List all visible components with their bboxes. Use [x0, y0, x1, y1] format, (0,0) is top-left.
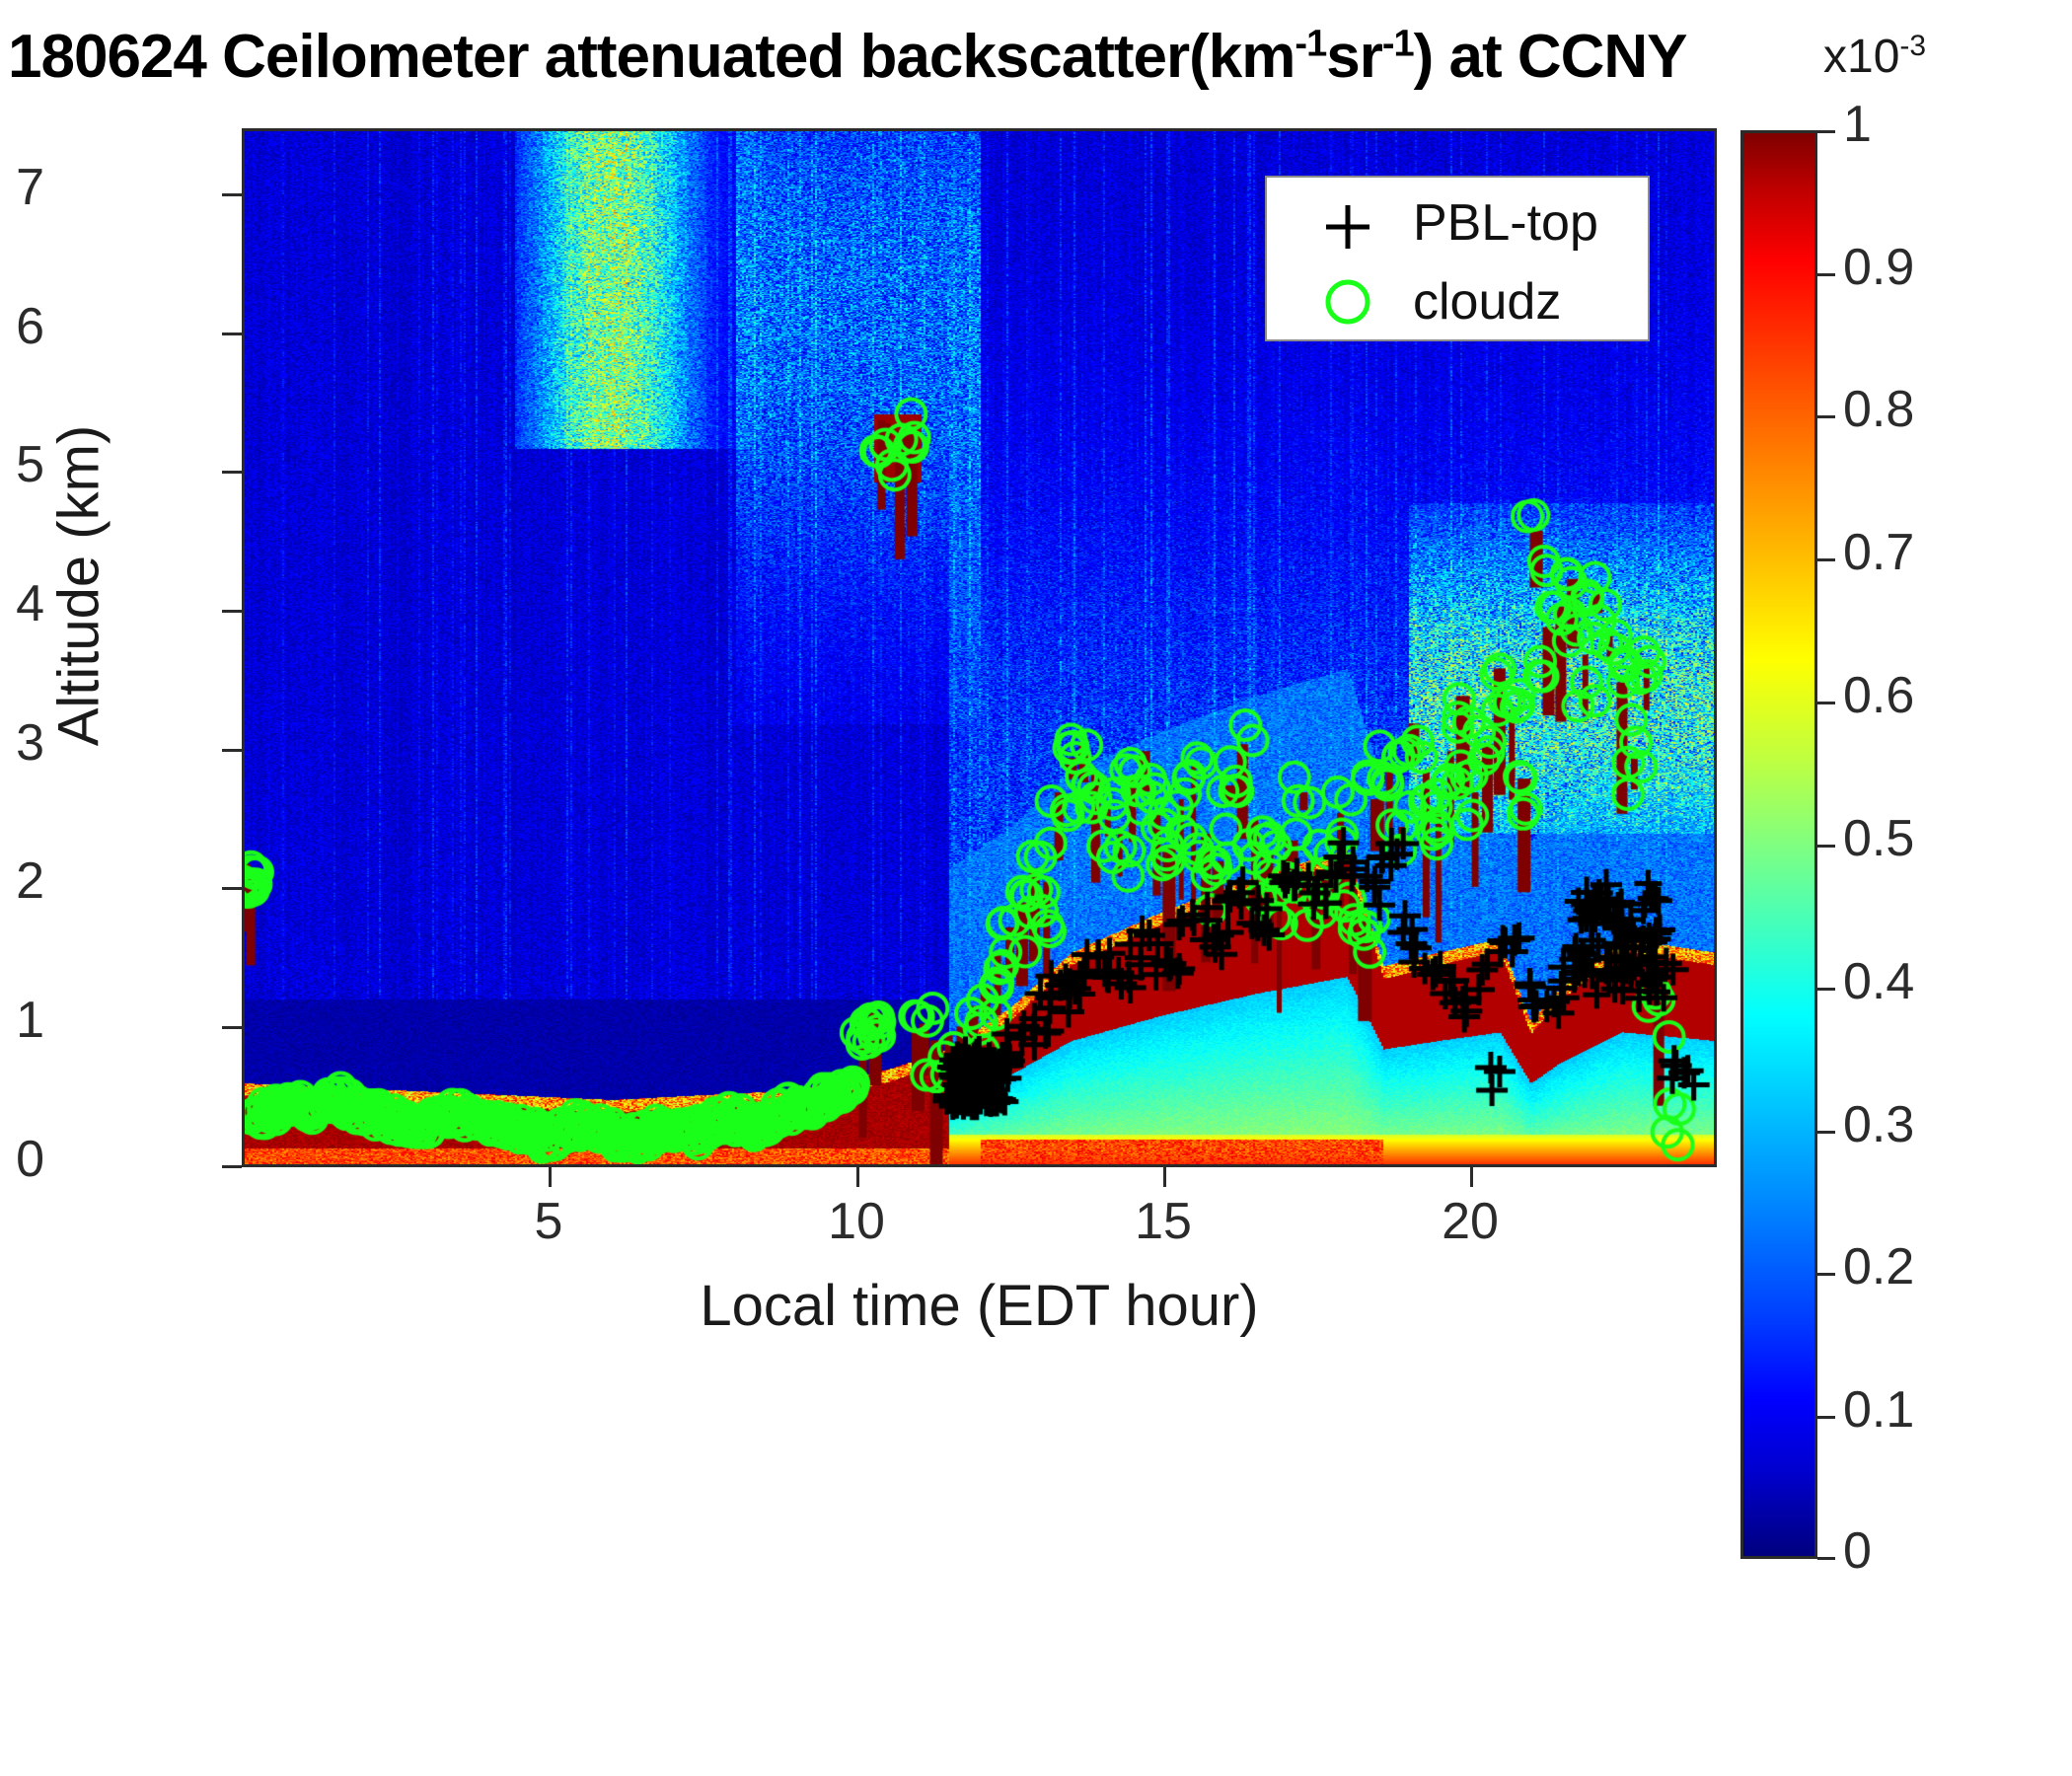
legend-item-pbl-top[interactable]: PBL-top [1267, 182, 1648, 264]
cb-tick-0.3 [1817, 1131, 1835, 1134]
cb-label-0.2: 0.2 [1843, 1237, 2011, 1296]
y-tick-label-6: 6 [0, 297, 44, 356]
cb-label-0.5: 0.5 [1843, 809, 2011, 868]
y-tick-label-5: 5 [0, 435, 44, 494]
page-title: 180624 Ceilometer attenuated backscatter… [8, 22, 2060, 92]
legend-label-cloudz: cloudz [1413, 260, 1561, 343]
cb-tick-0.9 [1817, 273, 1835, 276]
cb-label-1: 1 [1843, 95, 2011, 154]
circle-marker-icon [1289, 260, 1407, 343]
cb-label-0.8: 0.8 [1843, 380, 2011, 439]
cb-label-0.6: 0.6 [1843, 666, 2011, 725]
cb-tick-0.2 [1817, 1273, 1835, 1276]
x-tick-20 [1470, 1167, 1473, 1187]
title-suffix: ) at CCNY [1414, 23, 1687, 91]
x-tick-label-20: 20 [1401, 1192, 1539, 1251]
y-tick-label-4: 4 [0, 574, 44, 633]
cb-tick-0.6 [1817, 702, 1835, 704]
x-axis-label: Local time (EDT hour) [242, 1273, 1717, 1339]
y-tick-label-0: 0 [0, 1130, 44, 1189]
cb-tick-1 [1817, 130, 1835, 133]
colorbar[interactable] [1740, 130, 1817, 1559]
cb-tick-0.4 [1817, 988, 1835, 991]
y-tick-4 [222, 610, 242, 613]
y-tick-5 [222, 471, 242, 474]
x-tick-15 [1163, 1167, 1166, 1187]
y-tick-7 [222, 193, 242, 196]
x-tick-5 [549, 1167, 552, 1187]
title-sr: sr [1326, 23, 1382, 91]
title-main: 180624 Ceilometer attenuated backscatter… [8, 23, 1295, 91]
y-tick-label-2: 2 [0, 851, 44, 911]
cb-label-0.1: 0.1 [1843, 1380, 2011, 1440]
legend-label-pbl-top: PBL-top [1413, 182, 1598, 264]
cb-tick-0.7 [1817, 558, 1835, 561]
title-exponent-1: -1 [1295, 23, 1326, 64]
y-tick-label-7: 7 [0, 158, 44, 217]
colorbar-multiplier: x10-3 [1823, 30, 1926, 84]
y-tick-2 [222, 887, 242, 890]
cb-label-0.3: 0.3 [1843, 1095, 2011, 1154]
y-tick-label-3: 3 [0, 713, 44, 773]
y-tick-3 [222, 749, 242, 752]
y-tick-0 [222, 1165, 242, 1168]
x-tick-label-5: 5 [480, 1192, 618, 1251]
plus-marker-icon [1289, 182, 1407, 264]
cb-tick-0.1 [1817, 1416, 1835, 1419]
cb-label-0.7: 0.7 [1843, 523, 2011, 582]
cb-tick-0 [1817, 1557, 1835, 1560]
cb-label-0.9: 0.9 [1843, 238, 2011, 297]
legend-item-cloudz[interactable]: cloudz [1267, 260, 1648, 343]
x-tick-10 [856, 1167, 859, 1187]
x-tick-label-10: 10 [787, 1192, 925, 1251]
cb-tick-0.8 [1817, 415, 1835, 418]
cb-label-0.4: 0.4 [1843, 952, 2011, 1011]
y-tick-1 [222, 1026, 242, 1029]
title-exponent-2: -1 [1382, 23, 1414, 64]
cb-tick-0.5 [1817, 845, 1835, 848]
y-tick-label-1: 1 [0, 991, 44, 1050]
cb-label-0: 0 [1843, 1521, 2011, 1581]
legend: PBL-top cloudz [1265, 176, 1650, 341]
y-tick-6 [222, 333, 242, 335]
y-axis-label: Altitude (km) [46, 211, 112, 961]
x-tick-label-15: 15 [1094, 1192, 1232, 1251]
